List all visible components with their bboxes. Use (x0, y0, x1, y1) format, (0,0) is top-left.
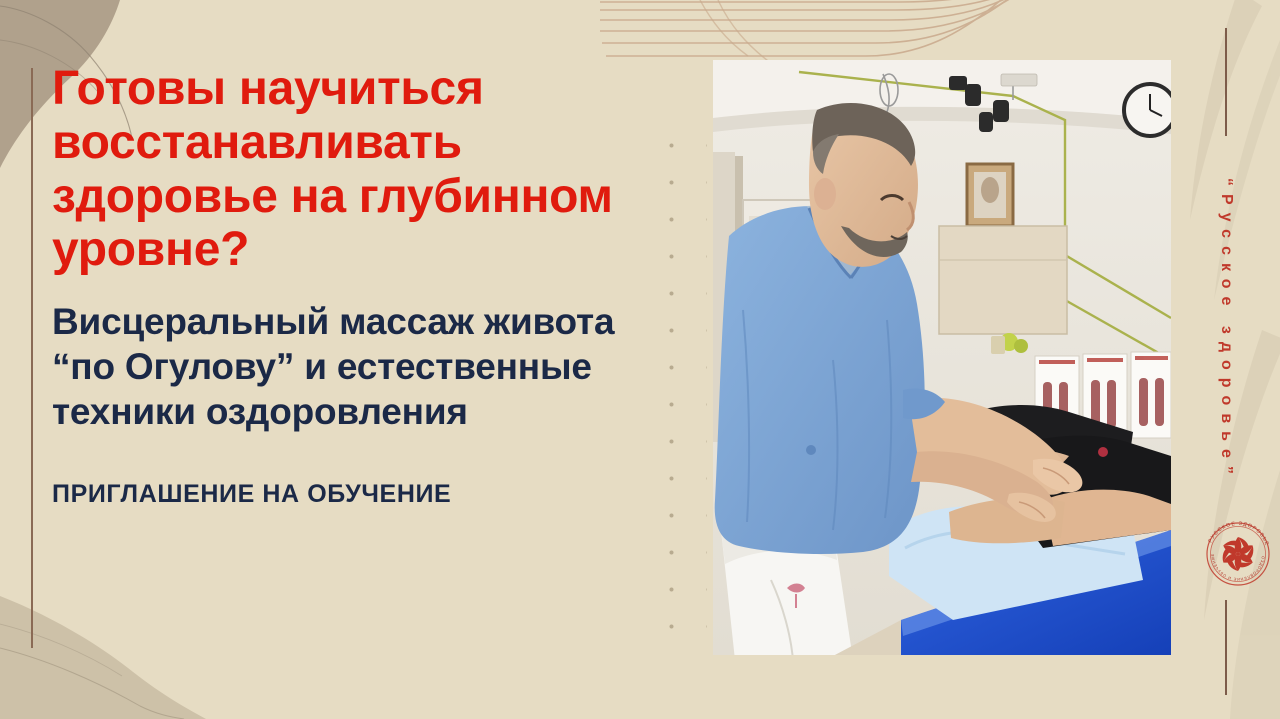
kicker-label: ПРИГЛАШЕНИЕ НА ОБУЧЕНИЕ (52, 480, 642, 509)
brand-rail: “Русское здоровье” РУССКОЕ ЗДОРОВЬЕ ОЗДО… (1172, 0, 1280, 719)
seal-icon: РУССКОЕ ЗДОРОВЬЕ ОЗДОРОВЛЕНИЕ И ОБУЧЕНИЕ (1202, 518, 1274, 590)
dot-grid-pattern (645, 118, 707, 643)
page-title: Готовы научиться восстанавливать здоровь… (52, 62, 642, 277)
brand-vertical-text-wrap: “Русское здоровье” (1172, 150, 1280, 510)
photo-illustration (713, 60, 1171, 655)
left-accent-rule (31, 68, 33, 648)
headline-block: Готовы научиться восстанавливать здоровь… (52, 62, 642, 509)
rail-bottom-line (1225, 600, 1227, 695)
subtitle: Висцеральный массаж живота “по Огулову” … (52, 299, 642, 434)
hero-photo (713, 60, 1171, 655)
brand-vertical-text: “Русское здоровье” (1217, 178, 1235, 482)
brand-seal: РУССКОЕ ЗДОРОВЬЕ ОЗДОРОВЛЕНИЕ И ОБУЧЕНИЕ (1202, 518, 1274, 590)
poster-canvas: Готовы научиться восстанавливать здоровь… (0, 0, 1280, 719)
rail-top-line (1225, 28, 1227, 136)
